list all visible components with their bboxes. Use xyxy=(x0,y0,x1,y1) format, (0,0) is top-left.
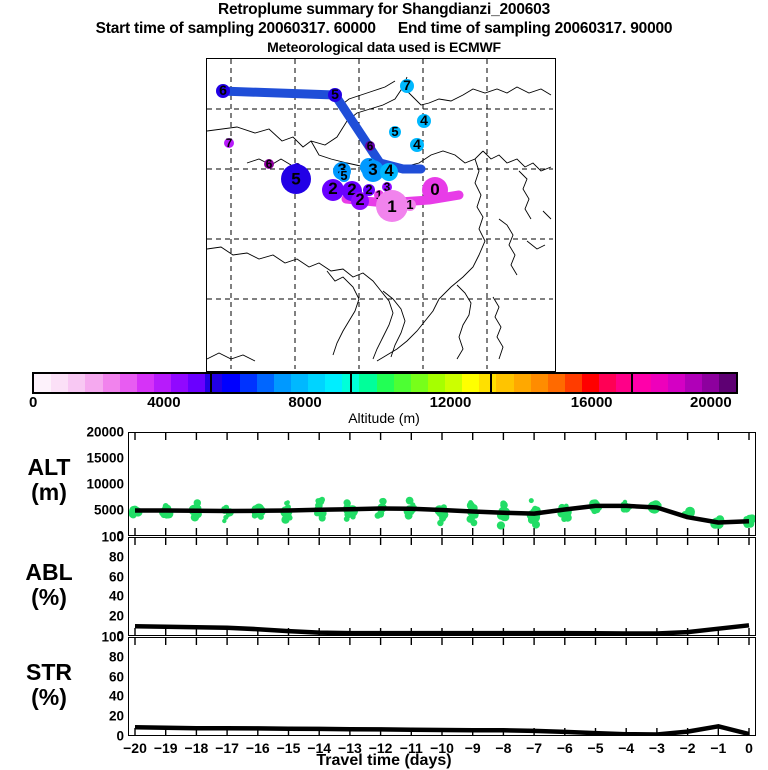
colorbar-segment xyxy=(257,374,274,392)
colorbar-segment xyxy=(685,374,702,392)
y-tick-label: 80 xyxy=(109,649,124,664)
colorbar-segment xyxy=(308,374,325,392)
start-time-label: Start time of sampling 20060317. 60000 xyxy=(96,20,376,37)
str-chart[interactable] xyxy=(128,637,756,736)
colorbar-segment xyxy=(205,374,222,392)
y-tick-label: 20 xyxy=(109,709,124,724)
alt-scatter-point xyxy=(284,501,288,505)
colorbar-segment xyxy=(325,374,342,392)
x-axis-title: Travel time (days) xyxy=(0,752,768,770)
colorbar-segment xyxy=(411,374,428,392)
alt-scatter-point xyxy=(471,519,478,526)
abl-chart-svg xyxy=(129,538,755,635)
map-blob-label: 5 xyxy=(391,124,398,139)
colorbar-segment xyxy=(222,374,239,392)
colorbar-divider xyxy=(631,374,633,392)
colorbar-segment xyxy=(462,374,479,392)
colorbar-segment xyxy=(445,374,462,392)
colorbar-segment xyxy=(496,374,513,392)
y-tick-label: 100 xyxy=(101,630,124,645)
alt-scatter-point xyxy=(222,519,226,523)
y-tick-label: 40 xyxy=(109,689,124,704)
retroplume-blobs: 6574546764543435222231110 xyxy=(216,77,448,222)
alt-scatter-point xyxy=(564,514,572,522)
map-blob: 0 xyxy=(422,177,448,203)
colorbar-segment xyxy=(274,374,291,392)
str-y-tick-labels: 020406080100 xyxy=(68,0,124,768)
str-chart-svg xyxy=(129,638,755,735)
colorbar-tick-label: 20000 xyxy=(690,394,732,411)
alt-scatter-point xyxy=(252,513,258,519)
map-blob-label: 6 xyxy=(367,140,374,153)
colorbar-segment xyxy=(719,374,736,392)
map-blob: 7 xyxy=(400,77,414,93)
map-blob-label: 1 xyxy=(406,197,413,212)
colorbar-segment xyxy=(651,374,668,392)
map-blob: 6 xyxy=(216,82,230,98)
colorbar-segment xyxy=(565,374,582,392)
alt-chart[interactable] xyxy=(128,432,756,536)
map-blob: 2 xyxy=(363,182,375,197)
map-blob-label: 5 xyxy=(331,86,339,102)
colorbar-divider xyxy=(350,374,352,392)
colorbar-segment xyxy=(240,374,257,392)
alt-scatter-point xyxy=(406,497,414,505)
colorbar-segment xyxy=(479,374,496,392)
colorbar-segment xyxy=(51,374,68,392)
colorbar-segment xyxy=(394,374,411,392)
colorbar-tick-label: 0 xyxy=(29,394,37,411)
alt-scatter-point xyxy=(281,516,289,524)
alt-scatter-point xyxy=(467,502,475,510)
colorbar-segment xyxy=(359,374,376,392)
map-blob-label: 7 xyxy=(403,77,411,93)
retroplume-map[interactable]: 6574546764543435222231110 xyxy=(206,58,556,372)
colorbar-segment xyxy=(291,374,308,392)
map-blob-label: 0 xyxy=(430,180,439,199)
abl-chart[interactable] xyxy=(128,537,756,636)
alt-scatter-point xyxy=(437,520,443,526)
colorbar-segment xyxy=(548,374,565,392)
y-tick-label: 60 xyxy=(109,669,124,684)
colorbar-segment xyxy=(531,374,548,392)
map-blob-label: 2 xyxy=(328,179,337,198)
map-blob-label: 3 xyxy=(368,160,377,179)
colorbar-segment xyxy=(599,374,616,392)
map-blob-label: 4 xyxy=(420,112,428,128)
alt-scatter-point xyxy=(130,512,136,518)
map-blob: 4 xyxy=(410,136,424,152)
map-blob-label: 2 xyxy=(365,182,372,197)
map-blob-label: 1 xyxy=(387,197,396,216)
map-svg: 6574546764543435222231110 xyxy=(207,59,553,369)
map-blob-label: 2 xyxy=(355,191,364,209)
altitude-colorbar[interactable] xyxy=(32,372,738,394)
colorbar-segment xyxy=(188,374,205,392)
colorbar-tick-label: 12000 xyxy=(430,394,472,411)
map-blob-label: 6 xyxy=(266,158,273,171)
alt-scatter-point xyxy=(532,521,540,529)
map-blob: 4 xyxy=(417,112,431,128)
map-blob-label: 4 xyxy=(413,136,421,152)
colorbar-segment xyxy=(702,374,719,392)
colorbar-tick-label: 4000 xyxy=(147,394,180,411)
alt-scatter-point xyxy=(258,514,264,520)
alt-chart-svg xyxy=(129,433,755,535)
map-blob: 7 xyxy=(224,137,234,150)
map-blob: 2 xyxy=(322,179,344,201)
map-blob: 5 xyxy=(389,124,401,139)
colorbar-segment xyxy=(514,374,531,392)
abl-tick-marks xyxy=(135,538,749,635)
colorbar-tick-label: 8000 xyxy=(288,394,321,411)
map-blob-label: 5 xyxy=(291,170,300,189)
alt-scatter-point xyxy=(316,499,323,506)
map-blob: 5 xyxy=(281,164,311,194)
colorbar-tick-label: 16000 xyxy=(571,394,613,411)
colorbar-divider xyxy=(490,374,492,392)
alt-scatter-point xyxy=(377,510,384,517)
colorbar-segment xyxy=(34,374,51,392)
alt-scatter-point xyxy=(529,498,534,503)
coastline-paths xyxy=(207,77,551,361)
alt-scatter-point xyxy=(497,521,505,529)
colorbar-segment xyxy=(137,374,154,392)
colorbar-segment xyxy=(428,374,445,392)
map-blob-label: 7 xyxy=(226,137,233,150)
map-blob-label: 6 xyxy=(219,82,227,98)
colorbar-divider xyxy=(210,374,212,392)
colorbar-segment xyxy=(154,374,171,392)
colorbar-segment xyxy=(171,374,188,392)
colorbar-segment xyxy=(633,374,650,392)
colorbar-segment xyxy=(377,374,394,392)
end-time-label: End time of sampling 20060317. 90000 xyxy=(398,20,673,37)
alt-scatter-point xyxy=(344,516,350,522)
alt-scatter-point xyxy=(379,498,385,504)
map-blob-label: 4 xyxy=(384,162,393,180)
colorbar-segment xyxy=(582,374,599,392)
colorbar-segment xyxy=(668,374,685,392)
map-blob: 5 xyxy=(328,86,342,102)
alt-scatter-point xyxy=(500,500,506,506)
map-blob: 1 xyxy=(376,190,408,222)
str-tick-marks xyxy=(135,638,749,735)
